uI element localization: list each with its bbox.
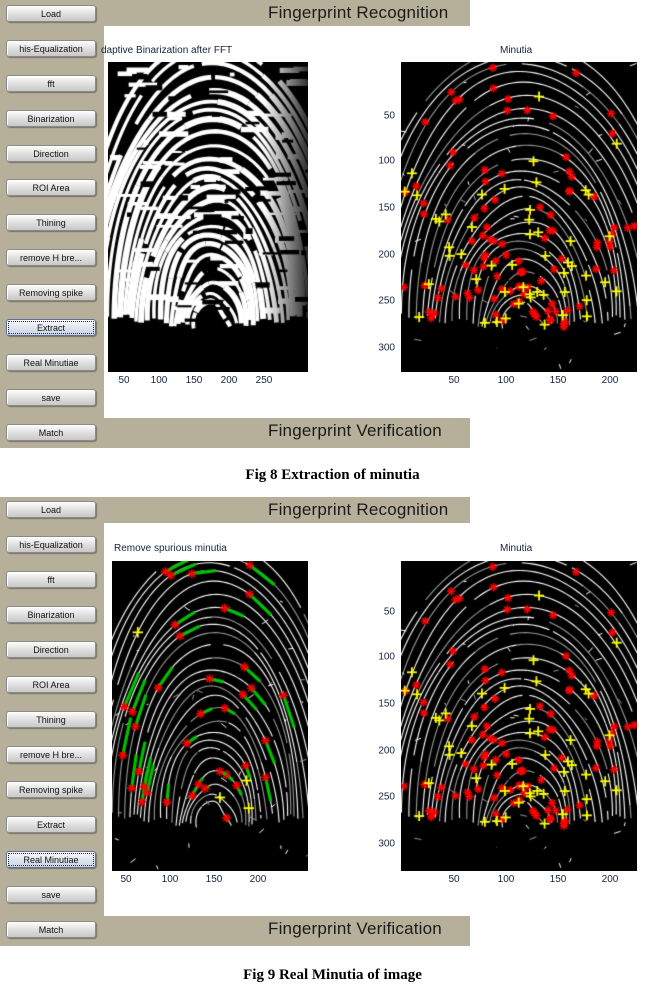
button-extract[interactable]: Extract [6, 319, 96, 336]
xtick: 100 [151, 375, 168, 386]
figure-caption: Fig 8 Extraction of minutia [0, 467, 665, 484]
button-remove-h-break[interactable]: remove H bre... [6, 249, 96, 266]
plot-title-remove-spurious: Remove spurious minutia [114, 543, 227, 554]
ytick: 150 [371, 699, 395, 710]
xtick: 100 [498, 375, 515, 386]
xtick: 100 [162, 874, 179, 885]
button-roi-area[interactable]: ROI Area [6, 676, 96, 693]
plot-title-minutia: Minutia [500, 45, 532, 56]
xtick: 150 [206, 874, 223, 885]
gui-title-bottom: Fingerprint Verification [268, 421, 442, 441]
button-his-equalization[interactable]: his-Equalization [6, 40, 96, 57]
button-his-equalization[interactable]: his-Equalization [6, 536, 96, 553]
ytick: 100 [371, 652, 395, 663]
ytick: 300 [371, 343, 395, 354]
xtick: 50 [448, 375, 459, 386]
button-match[interactable]: Match [6, 921, 96, 938]
button-thining[interactable]: Thining [6, 214, 96, 231]
gui-title-top: Fingerprint Recognition [268, 500, 448, 520]
button-removing-spike[interactable]: Removing spike [6, 284, 96, 301]
button-match[interactable]: Match [6, 424, 96, 441]
button-direction[interactable]: Direction [6, 641, 96, 658]
xtick: 150 [186, 375, 203, 386]
axes-binarization [108, 62, 308, 372]
button-binarization[interactable]: Binarization [6, 110, 96, 127]
xtick: 100 [498, 874, 515, 885]
xtick: 50 [448, 874, 459, 885]
xtick: 150 [550, 375, 567, 386]
button-binarization[interactable]: Binarization [6, 606, 96, 623]
button-roi-area[interactable]: ROI Area [6, 179, 96, 196]
figure-9: Fingerprint Recognition Fingerprint Veri… [0, 497, 665, 996]
button-load[interactable]: Load [6, 5, 96, 22]
ytick: 150 [371, 203, 395, 214]
ytick: 250 [371, 792, 395, 803]
xtick: 50 [120, 874, 131, 885]
ytick: 200 [371, 250, 395, 261]
xtick: 200 [602, 874, 619, 885]
button-load[interactable]: Load [6, 501, 96, 518]
plot-title-binarization: daptive Binarization after FFT [101, 45, 232, 56]
button-direction[interactable]: Direction [6, 145, 96, 162]
axes-minutia [401, 561, 637, 871]
button-removing-spike[interactable]: Removing spike [6, 781, 96, 798]
gui-title-bottom: Fingerprint Verification [268, 919, 442, 939]
xtick: 200 [602, 375, 619, 386]
gui-window-fig8: Fingerprint Recognition Fingerprint Veri… [0, 0, 665, 448]
button-save[interactable]: save [6, 886, 96, 903]
xtick: 150 [550, 874, 567, 885]
gui-window-fig9: Fingerprint Recognition Fingerprint Veri… [0, 497, 665, 946]
button-real-minutiae[interactable]: Real Minutiae [6, 354, 96, 371]
ytick: 50 [371, 111, 395, 122]
xtick: 50 [118, 375, 129, 386]
ytick: 100 [371, 156, 395, 167]
ytick: 300 [371, 839, 395, 850]
button-fft[interactable]: fft [6, 571, 96, 588]
button-remove-h-break[interactable]: remove H bre... [6, 746, 96, 763]
figure-8: Fingerprint Recognition Fingerprint Veri… [0, 0, 665, 470]
plot-title-minutia: Minutia [500, 543, 532, 554]
ytick: 200 [371, 746, 395, 757]
button-extract[interactable]: Extract [6, 816, 96, 833]
xtick: 250 [256, 375, 273, 386]
button-save[interactable]: save [6, 389, 96, 406]
ytick: 250 [371, 296, 395, 307]
button-real-minutiae[interactable]: Real Minutiae [6, 851, 96, 868]
figure-caption: Fig 9 Real Minutia of image [0, 967, 665, 984]
xtick: 200 [250, 874, 267, 885]
button-fft[interactable]: fft [6, 75, 96, 92]
button-thining[interactable]: Thining [6, 711, 96, 728]
gui-title-top: Fingerprint Recognition [268, 3, 448, 23]
axes-minutia [401, 62, 637, 372]
xtick: 200 [221, 375, 238, 386]
ytick: 50 [371, 607, 395, 618]
axes-remove-spurious [112, 561, 308, 871]
